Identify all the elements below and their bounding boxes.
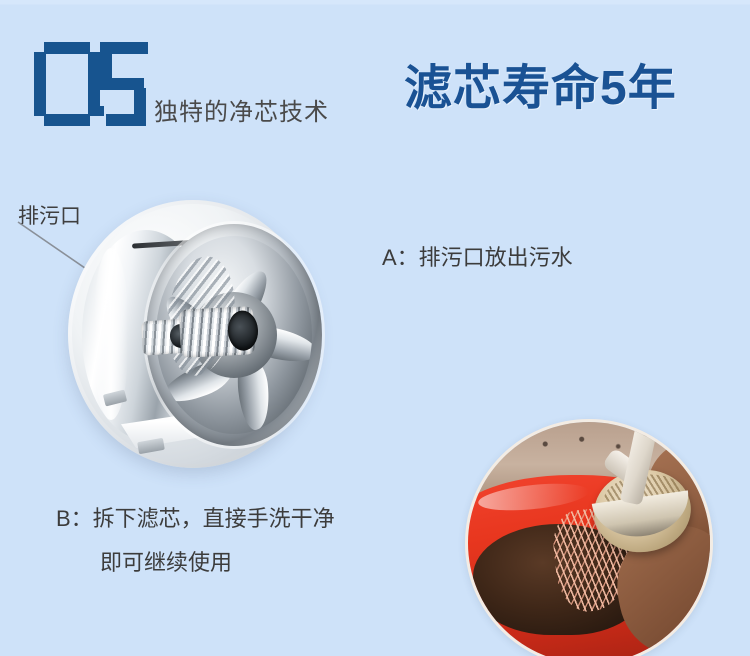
section-number-05: 05 [34, 42, 146, 126]
photo-washing-filter [465, 419, 713, 656]
threaded-outlet [179, 306, 255, 358]
product-filter-housing-illustration [68, 196, 330, 484]
note-a: A：排污口放出污水 [382, 240, 573, 272]
section-subtitle: 独特的净芯技术 [154, 92, 329, 127]
page-root: 05 独特的净芯技术 滤芯寿命5年 排污口 [0, 0, 750, 656]
note-b: B：拆下滤芯，直接手洗干净 即可继续使用 [56, 497, 335, 585]
page-title: 滤芯寿命5年 [404, 48, 677, 118]
note-b-line-1: B：拆下滤芯，直接手洗干净 [56, 506, 335, 531]
note-b-line-2: 即可继续使用 [56, 541, 335, 585]
